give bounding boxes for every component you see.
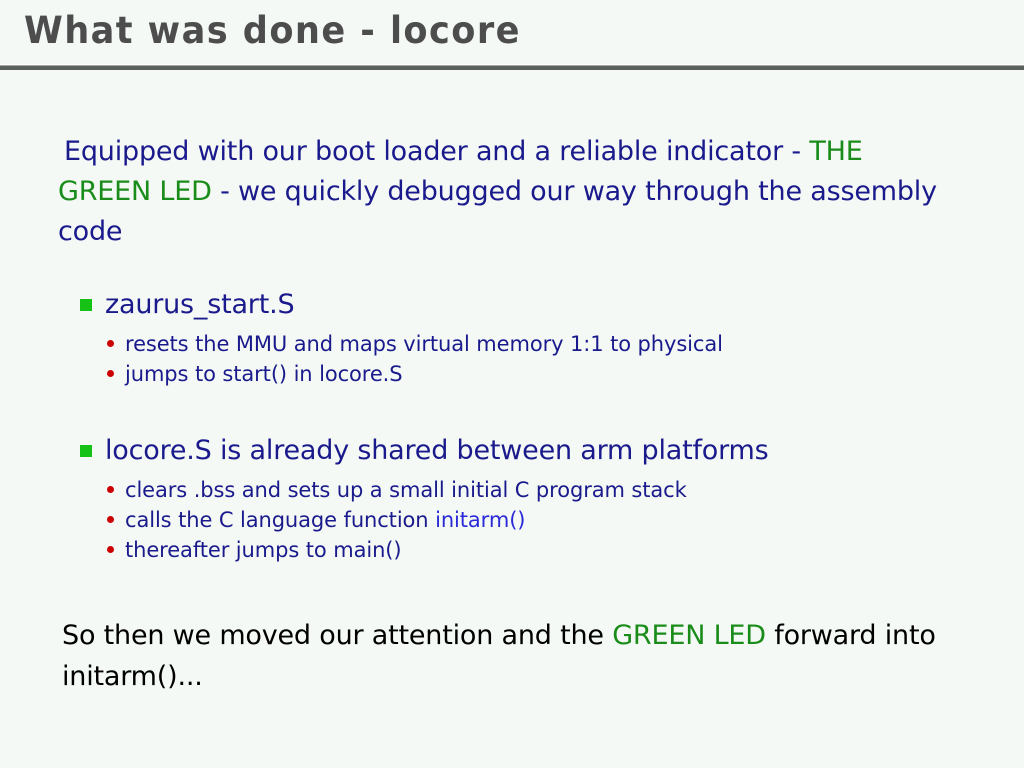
red-dot-bullet-icon xyxy=(107,516,114,523)
bullet-group-locore-shared: locore.S is already shared between arm p… xyxy=(0,434,1024,565)
sub-bullet-text: calls the C language function xyxy=(125,508,435,532)
page-title: What was done - locore xyxy=(24,11,521,52)
intro-paragraph: Equipped with our boot loader and a reli… xyxy=(0,132,1024,252)
sub-bullet-item: resets the MMU and maps virtual memory 1… xyxy=(106,329,1024,359)
green-square-bullet-icon xyxy=(80,299,92,311)
sub-bullet-item: clears .bss and sets up a small initial … xyxy=(106,475,1024,505)
closing-text-part1: So then we moved our attention and the xyxy=(62,620,612,651)
sub-bullet-item: thereafter jumps to main() xyxy=(106,535,1024,565)
sub-bullet-item: calls the C language function initarm() xyxy=(106,505,1024,535)
intro-text-part1: Equipped with our boot loader and a reli… xyxy=(64,136,809,167)
sub-bullet-list: clears .bss and sets up a small initial … xyxy=(80,475,1024,565)
bullet-label: zaurus_start.S xyxy=(105,289,294,320)
sub-bullet-list: resets the MMU and maps virtual memory 1… xyxy=(80,329,1024,389)
sub-bullet-highlight-initarm: initarm() xyxy=(435,508,525,532)
title-divider xyxy=(0,64,1024,70)
closing-paragraph: So then we moved our attention and the G… xyxy=(0,615,1024,697)
bullet-label: locore.S is already shared between arm p… xyxy=(105,435,769,466)
bullet-item-locore-shared: locore.S is already shared between arm p… xyxy=(80,434,1024,468)
red-dot-bullet-icon xyxy=(107,370,114,377)
sub-bullet-item: jumps to start() in locore.S xyxy=(106,359,1024,389)
bullet-group-zaurus-start: zaurus_start.S resets the MMU and maps v… xyxy=(0,288,1024,389)
green-square-bullet-icon xyxy=(80,445,92,457)
sub-bullet-text: jumps to start() in locore.S xyxy=(125,362,402,386)
bullet-item-zaurus-start: zaurus_start.S xyxy=(80,288,1024,322)
red-dot-bullet-icon xyxy=(107,340,114,347)
sub-bullet-text: resets the MMU and maps virtual memory 1… xyxy=(125,332,723,356)
slide-body: Equipped with our boot loader and a reli… xyxy=(0,78,1024,697)
red-dot-bullet-icon xyxy=(107,546,114,553)
closing-highlight-green-led: GREEN LED xyxy=(612,620,766,651)
red-dot-bullet-icon xyxy=(107,486,114,493)
sub-bullet-text: clears .bss and sets up a small initial … xyxy=(125,478,687,502)
sub-bullet-text: thereafter jumps to main() xyxy=(125,538,401,562)
